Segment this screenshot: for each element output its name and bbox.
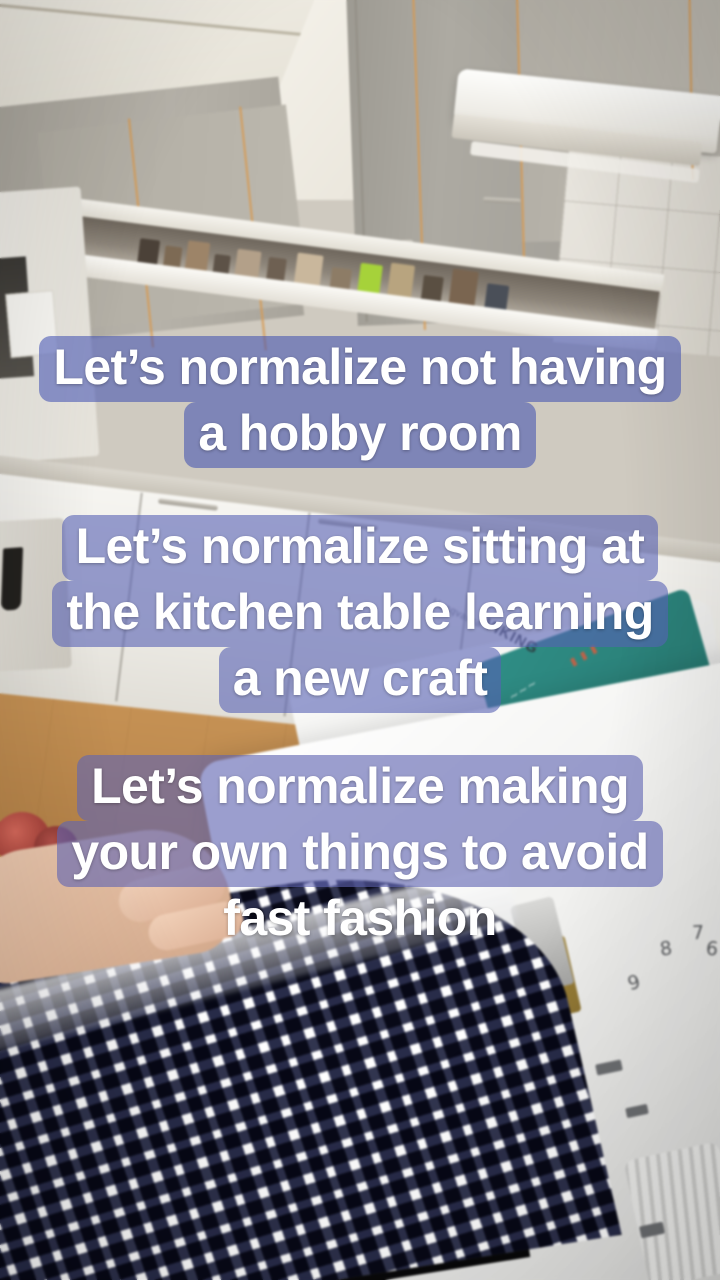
video-frame: ~~~ ▮ ▮ ▮ /\/\/ ▮ ▮ ▮ ≋≋≋ ▮ ▮ ░░░ ▪▪▪▪ ◇… bbox=[0, 0, 720, 1280]
caption-block-2: Let’s normalize sitting at the kitchen t… bbox=[0, 515, 720, 713]
caption-line: a hobby room bbox=[184, 402, 535, 468]
caption-block-3: Let’s normalize making your own things t… bbox=[0, 755, 720, 953]
caption-block-1: Let’s normalize not having a hobby room bbox=[0, 336, 720, 468]
caption-line: the kitchen table learning bbox=[52, 581, 667, 647]
caption-line: fast fashion bbox=[209, 887, 510, 953]
caption-line: a new craft bbox=[219, 647, 502, 713]
caption-line: Let’s normalize not having bbox=[39, 336, 680, 402]
caption-line: Let’s normalize making bbox=[77, 755, 643, 821]
caption-line: Let’s normalize sitting at bbox=[62, 515, 659, 581]
caption-line: your own things to avoid bbox=[57, 821, 662, 887]
